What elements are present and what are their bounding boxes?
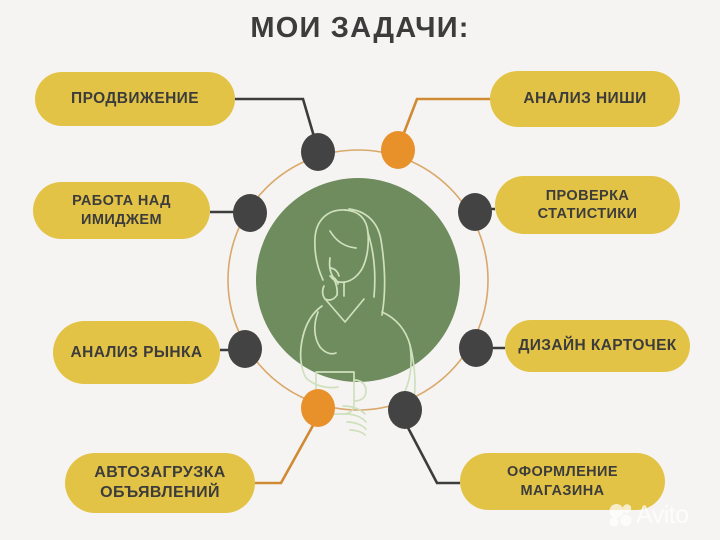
task-label-line-2: МАГАЗИНА bbox=[507, 482, 618, 500]
connector-autoupload bbox=[255, 420, 316, 483]
node-dot-stats bbox=[458, 193, 492, 231]
task-label-line-2: ОБЪЯВЛЕНИЙ bbox=[94, 483, 226, 503]
connector-promotion bbox=[235, 99, 315, 140]
avito-wordmark: Avito bbox=[636, 503, 689, 528]
task-label: АНАЛИЗ НИШИ bbox=[523, 89, 646, 108]
task-pill-niche[interactable]: АНАЛИЗ НИШИ bbox=[490, 71, 680, 127]
avito-dots-icon bbox=[608, 502, 634, 528]
center-circle bbox=[256, 178, 460, 382]
task-label-group: ПРОВЕРКА СТАТИСТИКИ bbox=[538, 187, 638, 223]
node-dot-cards bbox=[459, 329, 493, 367]
task-label-line-1: АВТОЗАГРУЗКА bbox=[94, 463, 226, 483]
node-dot-shop bbox=[388, 391, 422, 429]
task-pill-stats[interactable]: ПРОВЕРКА СТАТИСТИКИ bbox=[495, 176, 680, 234]
task-label-line-2: ИМИДЖЕМ bbox=[72, 211, 171, 229]
task-label-group: РАБОТА НАД ИМИДЖЕМ bbox=[72, 192, 171, 228]
infographic-canvas: МОИ ЗАДАЧИ: bbox=[0, 0, 720, 540]
task-pill-image[interactable]: РАБОТА НАД ИМИДЖЕМ bbox=[33, 182, 210, 239]
task-label-line-1: ОФОРМЛЕНИЕ bbox=[507, 463, 618, 481]
connector-shop bbox=[405, 422, 460, 483]
node-dot-niche bbox=[381, 131, 415, 169]
node-dot-autoupload bbox=[301, 389, 335, 427]
task-label-group: ОФОРМЛЕНИЕ МАГАЗИНА bbox=[507, 463, 618, 499]
task-label: ДИЗАЙН КАРТОЧЕК bbox=[518, 336, 676, 355]
node-dot-promotion bbox=[301, 133, 335, 171]
task-label: АНАЛИЗ РЫНКА bbox=[71, 343, 203, 362]
task-pill-cards[interactable]: ДИЗАЙН КАРТОЧЕК bbox=[505, 320, 690, 372]
task-pill-promotion[interactable]: ПРОДВИЖЕНИЕ bbox=[35, 72, 235, 126]
task-label-group: АВТОЗАГРУЗКА ОБЪЯВЛЕНИЙ bbox=[94, 463, 226, 503]
node-dot-image bbox=[233, 194, 267, 232]
task-label-line-2: СТАТИСТИКИ bbox=[538, 205, 638, 223]
task-pill-autoupload[interactable]: АВТОЗАГРУЗКА ОБЪЯВЛЕНИЙ bbox=[65, 453, 255, 513]
node-dot-market bbox=[228, 330, 262, 368]
task-label-line-1: ПРОВЕРКА bbox=[538, 187, 638, 205]
task-label-line-1: РАБОТА НАД bbox=[72, 192, 171, 210]
task-pill-market[interactable]: АНАЛИЗ РЫНКА bbox=[53, 321, 220, 384]
connector-niche bbox=[402, 99, 490, 138]
task-label: ПРОДВИЖЕНИЕ bbox=[71, 89, 199, 108]
avito-watermark: Avito bbox=[608, 502, 689, 528]
